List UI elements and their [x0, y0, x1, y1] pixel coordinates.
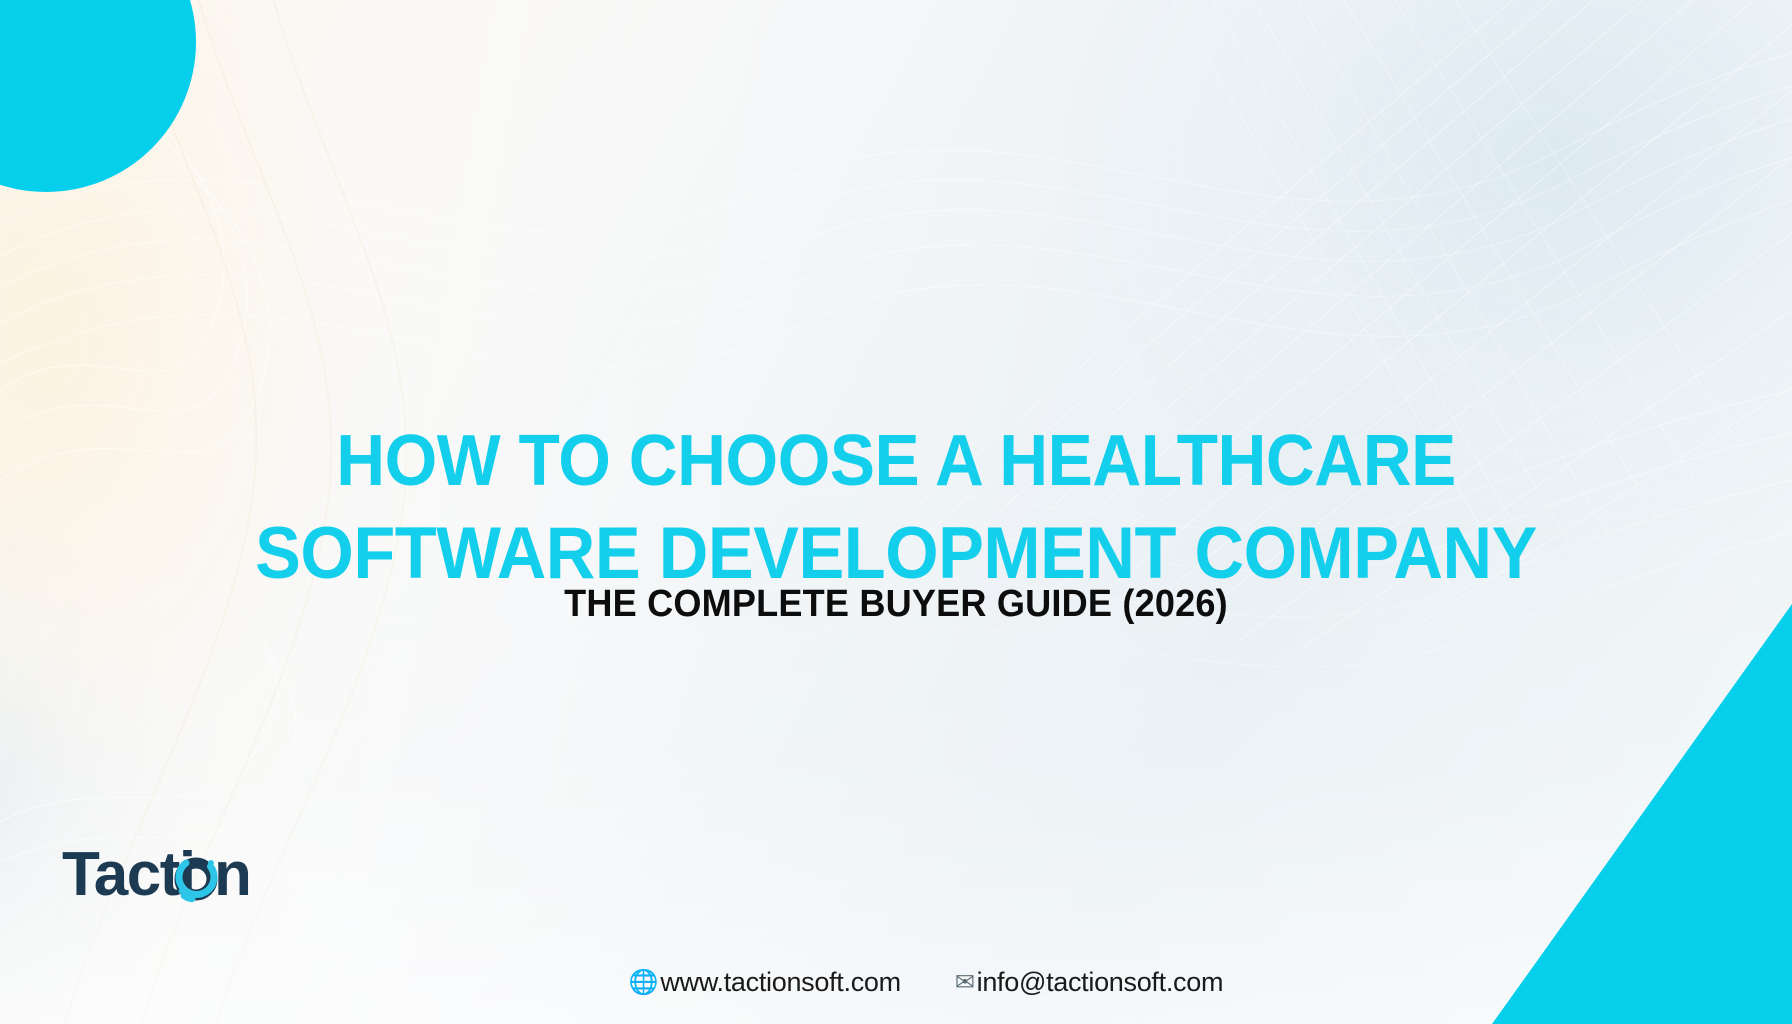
- headline-line-1: HOW TO CHOOSE A HEALTHCARE: [54, 416, 1738, 507]
- globe-icon: 🌐: [629, 971, 659, 995]
- page-subtitle: THE COMPLETE BUYER GUIDE (2026): [45, 583, 1747, 626]
- taction-logo: Tacti n: [62, 840, 310, 910]
- svg-text:n: n: [214, 840, 250, 909]
- website-contact[interactable]: 🌐 www.tactionsoft.com: [629, 967, 901, 998]
- taction-logo-svg: Tacti n: [62, 839, 310, 911]
- email-contact[interactable]: ✉ info@tactionsoft.com: [955, 967, 1223, 998]
- website-url-text: www.tactionsoft.com: [660, 967, 900, 998]
- svg-text:Tacti: Tacti: [62, 840, 195, 909]
- footer-contact-bar: 🌐 www.tactionsoft.com ✉ info@tactionsoft…: [0, 967, 1792, 998]
- poster-canvas: HOW TO CHOOSE A HEALTHCARE SOFTWARE DEVE…: [0, 0, 1792, 1024]
- email-address-text: info@tactionsoft.com: [977, 967, 1224, 998]
- envelope-icon: ✉: [955, 971, 975, 995]
- poster-content: HOW TO CHOOSE A HEALTHCARE SOFTWARE DEVE…: [0, 0, 1792, 1024]
- page-title: HOW TO CHOOSE A HEALTHCARE SOFTWARE DEVE…: [54, 416, 1738, 600]
